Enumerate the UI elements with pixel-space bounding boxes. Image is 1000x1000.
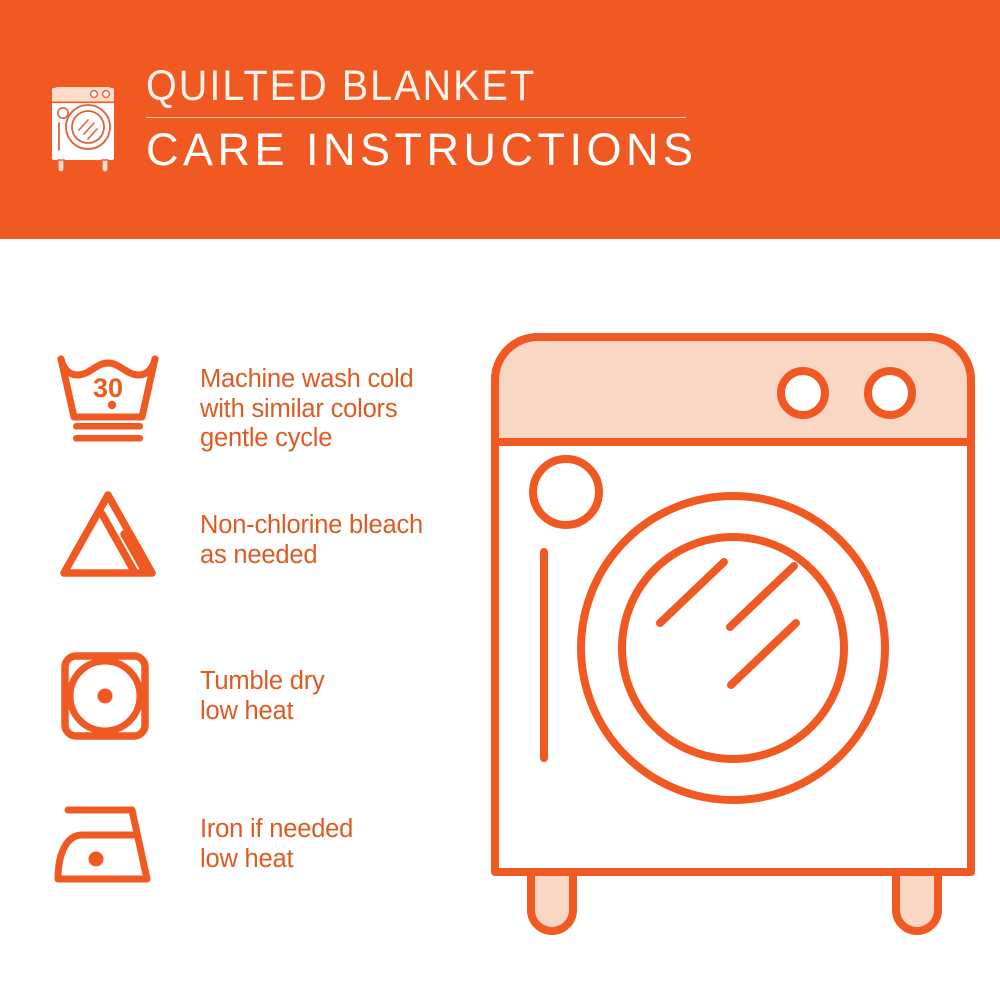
front-load-washing-machine-illustration (488, 330, 978, 940)
title-stack: QUILTED BLANKET CARE INSTRUCTIONS (146, 62, 698, 176)
washer-indicator-light (533, 459, 599, 525)
header-content: QUILTED BLANKET CARE INSTRUCTIONS (44, 62, 698, 178)
care-row-tumble-dry: Tumble dry low heat (52, 645, 325, 745)
care-row-iron: Iron if needed low heat (52, 795, 353, 895)
care-instruction-list: 30 Machine wash cold with similar colors… (0, 239, 480, 1000)
title-divider (146, 117, 686, 118)
care-row-bleach: Non-chlorine bleach as needed (52, 487, 423, 587)
page-title-primary: QUILTED BLANKET (146, 62, 653, 110)
care-text-bleach: Non-chlorine bleach as needed (200, 511, 423, 570)
washer-foot-left (531, 872, 573, 931)
washer-knob-left[interactable] (781, 371, 825, 415)
iron-low-heat-icon (52, 795, 164, 895)
care-text-machine-wash: Machine wash cold with similar colors ge… (200, 365, 413, 454)
non-chlorine-bleach-icon (52, 487, 164, 587)
care-row-machine-wash: 30 Machine wash cold with similar colors… (52, 349, 413, 454)
page-title-secondary: CARE INSTRUCTIONS (146, 124, 698, 176)
machine-wash-30-gentle-icon: 30 (52, 349, 164, 449)
washer-foot-right (896, 872, 938, 931)
care-text-iron: Iron if needed low heat (200, 815, 353, 874)
care-text-tumble-dry: Tumble dry low heat (200, 667, 325, 726)
washer-knob-right[interactable] (868, 371, 912, 415)
header-banner: QUILTED BLANKET CARE INSTRUCTIONS (0, 0, 1000, 239)
tumble-dry-low-heat-icon (52, 645, 164, 745)
wash-temperature-label: 30 (93, 373, 123, 403)
washing-machine-icon (44, 68, 130, 178)
